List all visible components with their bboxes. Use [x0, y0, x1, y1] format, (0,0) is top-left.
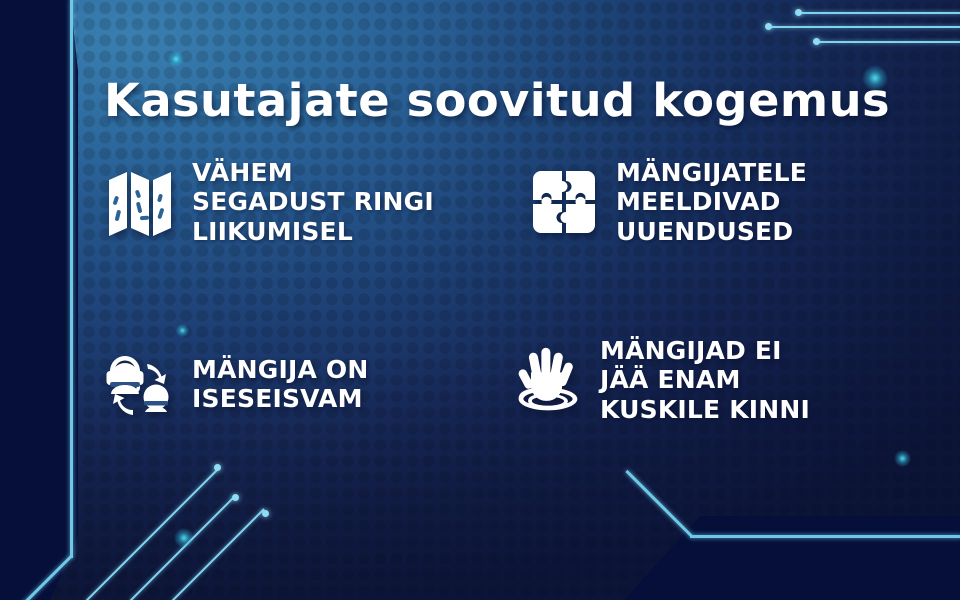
page-title: Kasutajate soovitud kogemus — [104, 74, 890, 127]
feature-item-less-confusion: VÄHEM SEGADUST RINGI LIIKUMISEL — [104, 158, 434, 246]
feature-label: MÄNGIJAD EI JÄÄ ENAM KUSKILE KINNI — [600, 336, 810, 424]
feature-item-players-like-updates: MÄNGIJATELE MEELDIVAD UUENDUSED — [528, 158, 807, 246]
slide-canvas: Kasutajate soovitud kogemus — [0, 0, 960, 600]
feature-label: MÄNGIJATELE MEELDIVAD UUENDUSED — [616, 158, 807, 246]
sinking-hand-icon — [512, 344, 584, 416]
feature-label: VÄHEM SEGADUST RINGI LIIKUMISEL — [192, 158, 434, 246]
feature-item-player-independence: MÄNGIJA ON ISESEISVAM — [104, 348, 369, 420]
support-handoff-icon — [104, 348, 176, 420]
puzzle-pieces-icon — [528, 166, 600, 238]
folded-map-icon — [104, 166, 176, 238]
feature-item-no-more-stuck: MÄNGIJAD EI JÄÄ ENAM KUSKILE KINNI — [512, 336, 810, 424]
slide-content: Kasutajate soovitud kogemus — [0, 0, 960, 600]
feature-label: MÄNGIJA ON ISESEISVAM — [192, 355, 369, 414]
